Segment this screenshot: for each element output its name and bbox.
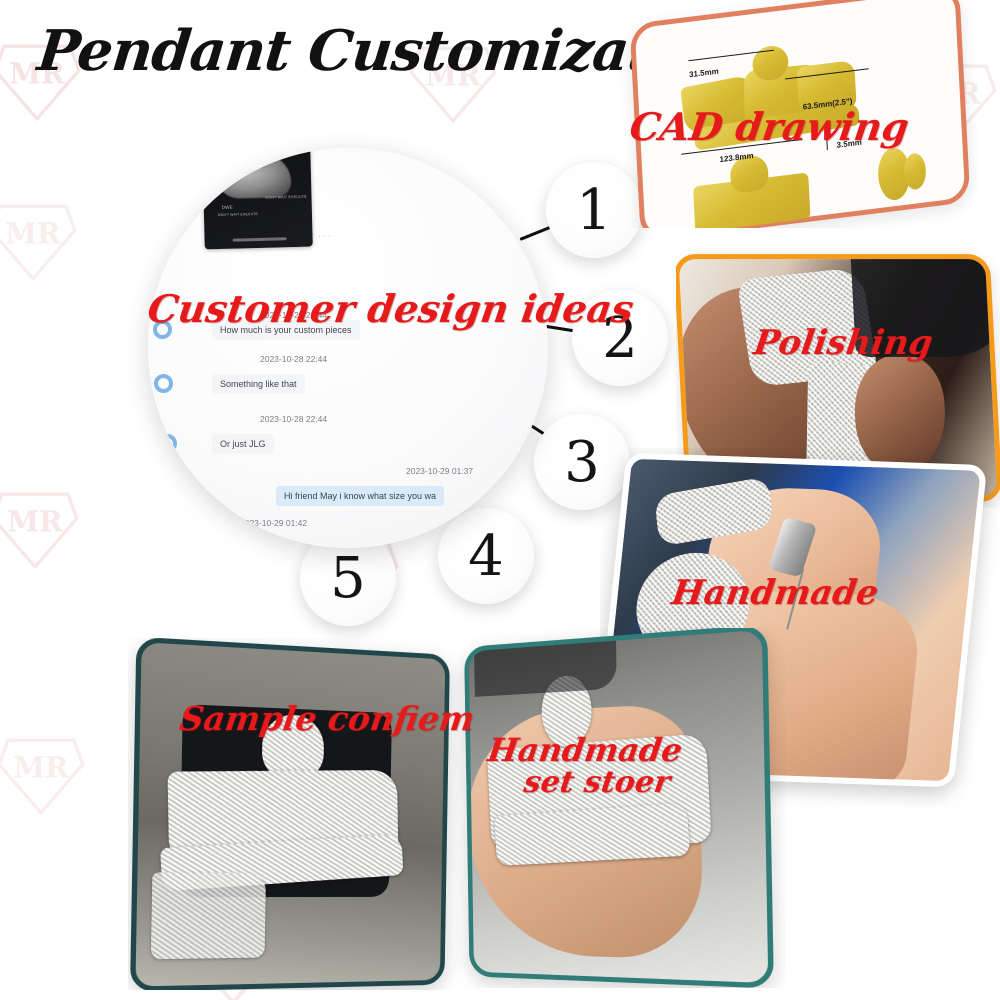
svg-text:MR: MR: [13, 751, 69, 785]
caption-handmade-set-line2: set stoer: [522, 768, 672, 799]
panel-cad-drawing[interactable]: 31.5mm 63.5mm(2.5") 123.8mm 3.5mm CAD dr…: [618, 0, 978, 228]
caption-handmade: Handmade: [670, 576, 881, 611]
caption-sample-confiem: Sample confiem: [178, 702, 477, 736]
watermark-logo: MR: [0, 470, 90, 580]
caption-customer-design-ideas: Customer design ideas: [145, 290, 635, 329]
panel-sample-confiem[interactable]: Sample confiem: [128, 638, 478, 990]
infographic-canvas: MR MR MR MR MR MR MR: [0, 0, 1000, 1000]
chat-timestamp: 2023-10-28 22:44: [260, 354, 327, 364]
watermark-logo: MR: [0, 716, 96, 826]
step-number-5-label: 5: [330, 546, 366, 611]
chat-photo-attachment[interactable]: DWE DON'T WAIT EXECUTE DONT WAIT EXECUTE: [201, 148, 313, 249]
customer-chat-circle[interactable]: DWE DON'T WAIT EXECUTE DONT WAIT EXECUTE…: [148, 148, 548, 548]
chat-inner: DWE DON'T WAIT EXECUTE DONT WAIT EXECUTE…: [148, 148, 548, 548]
caption-polishing: Polishing: [752, 326, 935, 361]
chat-message-outgoing: Hi friend May i know what size you wa: [276, 486, 444, 506]
avatar: [158, 434, 177, 453]
chat-message-incoming: Or just JLG: [212, 434, 274, 454]
caption-cad-drawing: CAD drawing: [627, 108, 911, 147]
background-dark: [474, 635, 617, 697]
chat-timestamp: 2023-10-29 01:42: [240, 518, 307, 528]
photo-caption-sub: DON'T WAIT EXECUTE: [218, 212, 258, 217]
photo-caption-left: DWE: [222, 205, 233, 210]
caption-handmade-set-line1: Handmade: [486, 734, 685, 767]
svg-text:MR: MR: [7, 505, 63, 539]
home-indicator: [233, 237, 287, 241]
step-number-1-label: 1: [576, 178, 612, 243]
chat-timestamp: 2023-10-28 22:44: [260, 414, 327, 424]
watermark-logo: MR: [0, 182, 88, 292]
panel-handmade-set-stoer[interactable]: Handmade set stoer: [440, 628, 786, 988]
pendant-bottom-edge: [151, 872, 266, 959]
chat-message-incoming: Something like that: [212, 374, 305, 394]
photo-caption-right: DONT WAIT EXECUTE: [265, 195, 306, 200]
message-options-icon[interactable]: ···: [318, 231, 333, 241]
avatar: [154, 374, 173, 393]
svg-text:MR: MR: [5, 217, 61, 251]
step-number-3-label: 3: [564, 430, 600, 495]
sample-photo-frame: [130, 638, 450, 990]
handmade-set-photo-frame: [464, 628, 774, 988]
dimension-label-31-5: 31.5mm: [689, 67, 719, 80]
chat-timestamp: 2023-10-29 01:37: [406, 466, 473, 476]
